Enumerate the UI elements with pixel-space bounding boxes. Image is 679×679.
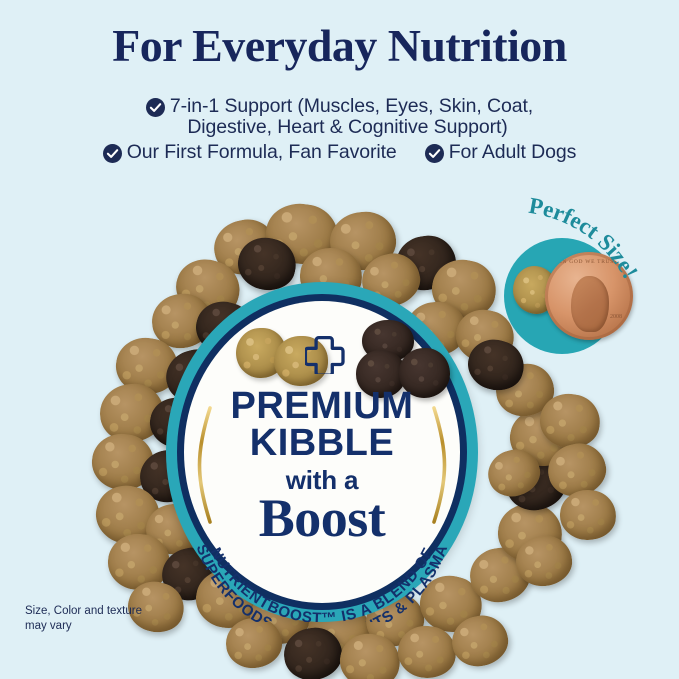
perfect-size-label: Perfect Size! xyxy=(492,196,679,356)
check-circle-icon xyxy=(146,98,165,117)
product-marketing-image: For Everyday Nutrition 7-in-1 Support (M… xyxy=(0,0,679,679)
list-item: 7-in-1 Support (Muscles, Eyes, Skin, Coa… xyxy=(0,96,679,116)
list-item-continuation: Digestive, Heart & Cognitive Support) xyxy=(0,117,679,137)
badge-curved-tagline: NUTRIENTBOOST™ IS A BLEND OF SUPERFOODS,… xyxy=(166,282,478,622)
disclaimer-text: Size, Color and texture may vary xyxy=(25,604,145,634)
benefit-list-bottom-row: Our First Formula, Fan Favorite For Adul… xyxy=(0,142,679,162)
list-item-label: For Adult Dogs xyxy=(449,142,577,162)
benefit-list: 7-in-1 Support (Muscles, Eyes, Skin, Coa… xyxy=(0,96,679,162)
check-circle-icon xyxy=(103,144,122,163)
perfect-size-callout: IN GOD WE TRUST 2008 Perfect Size! xyxy=(492,196,679,356)
list-item-label: Our First Formula, Fan Favorite xyxy=(127,142,397,162)
premium-kibble-badge: PREMIUM KIBBLE with a Boost NUTRIENTBOOS… xyxy=(166,282,478,622)
list-item-label: Digestive, Heart & Cognitive Support) xyxy=(171,117,507,137)
list-item: Our First Formula, Fan Favorite xyxy=(103,142,397,162)
perfect-size-text: Perfect Size! xyxy=(527,196,643,283)
badge-content: PREMIUM KIBBLE with a Boost NUTRIENTBOOS… xyxy=(166,282,478,622)
kibble-piece xyxy=(558,488,617,542)
page-title: For Everyday Nutrition xyxy=(0,24,679,69)
check-circle-icon xyxy=(425,144,444,163)
list-item-label: 7-in-1 Support (Muscles, Eyes, Skin, Coa… xyxy=(170,96,533,116)
list-item: For Adult Dogs xyxy=(425,142,577,162)
